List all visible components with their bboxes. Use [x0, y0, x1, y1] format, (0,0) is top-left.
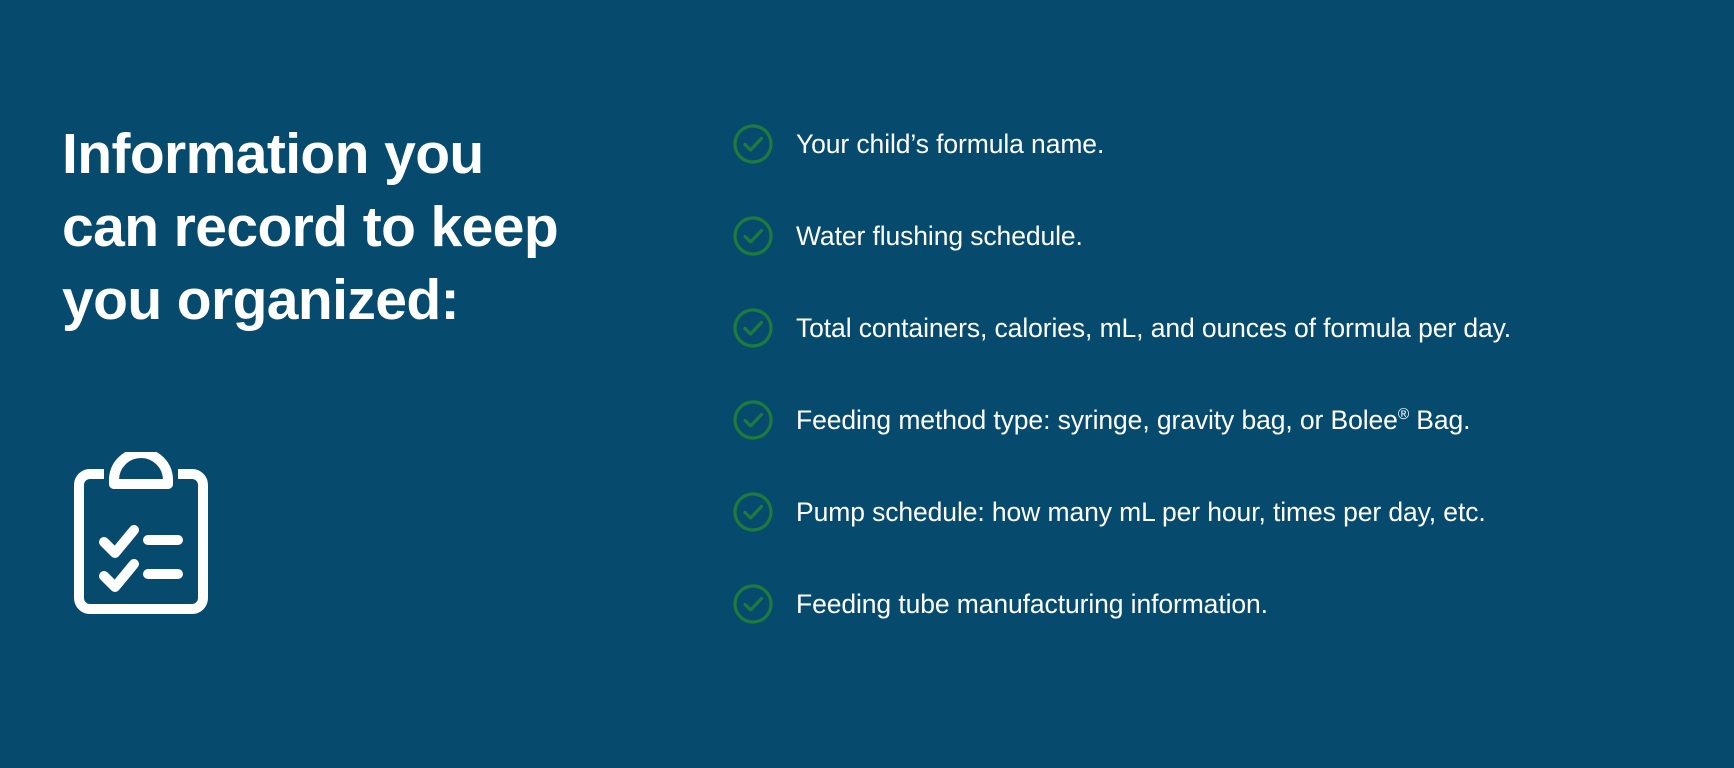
list-item: Feeding method type: syringe, gravity ba… [732, 394, 1732, 446]
checklist: Your child’s formula name. Water flushin… [732, 118, 1732, 630]
list-item-label: Total containers, calories, mL, and ounc… [796, 311, 1511, 345]
list-item-label: Your child’s formula name. [796, 127, 1104, 161]
list-item-label-main: Feeding method type: syringe, gravity ba… [796, 405, 1398, 435]
list-item: Feeding tube manufacturing information. [732, 578, 1732, 630]
list-item-label: Water flushing schedule. [796, 219, 1083, 253]
list-item-label: Pump schedule: how many mL per hour, tim… [796, 495, 1486, 529]
check-circle-icon [732, 215, 774, 257]
page-title: Information you can record to keep you o… [62, 118, 642, 337]
right-column: Your child’s formula name. Water flushin… [660, 0, 1734, 768]
list-item: Total containers, calories, mL, and ounc… [732, 302, 1732, 354]
list-item-label-tail: Bag. [1409, 405, 1470, 435]
check-circle-icon [732, 307, 774, 349]
information-banner: Information you can record to keep you o… [0, 0, 1734, 768]
list-item: Your child’s formula name. [732, 118, 1732, 170]
list-item: Pump schedule: how many mL per hour, tim… [732, 486, 1732, 538]
check-circle-icon [732, 491, 774, 533]
left-column: Information you can record to keep you o… [0, 0, 660, 768]
registered-trademark-symbol: ® [1398, 406, 1409, 423]
check-circle-icon [732, 583, 774, 625]
list-item-label: Feeding tube manufacturing information. [796, 587, 1268, 621]
check-circle-icon [732, 123, 774, 165]
check-circle-icon [732, 399, 774, 441]
clipboard-checklist-icon [74, 452, 208, 614]
list-item-label: Feeding method type: syringe, gravity ba… [796, 403, 1470, 437]
list-item: Water flushing schedule. [732, 210, 1732, 262]
